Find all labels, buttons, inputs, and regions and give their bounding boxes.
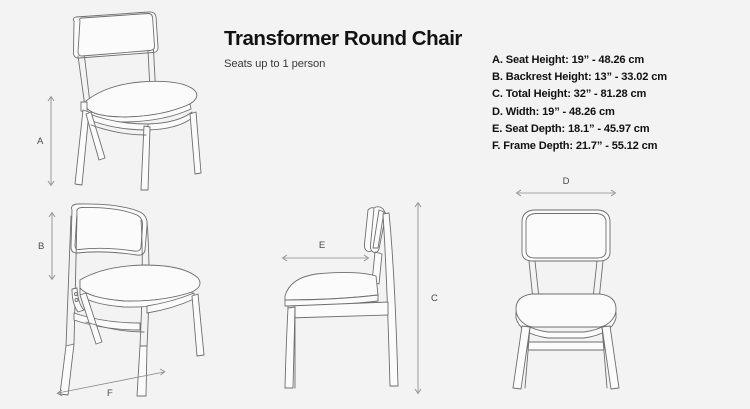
dimension-line-e: E	[283, 240, 369, 261]
dimension-label-c: C	[431, 293, 438, 304]
chair-view-three-quarter-front: A	[44, 6, 214, 191]
dimension-label-d: D	[563, 176, 570, 187]
chair-view-side: E C	[276, 196, 446, 401]
spec-item-a: A. Seat Height: 19” - 48.26 cm	[492, 52, 667, 69]
spec-item-d: D. Width: 19” - 48.26 cm	[492, 104, 667, 121]
product-subtitle: Seats up to 1 person	[224, 58, 474, 70]
backrest-panel	[71, 204, 147, 255]
dimension-line-a: A	[37, 97, 54, 186]
dimension-line-d: D	[517, 176, 616, 196]
dimension-label-e: E	[319, 240, 325, 251]
leg-front-left	[75, 110, 89, 185]
spec-item-b: B. Backrest Height: 13” - 33.02 cm	[492, 69, 667, 86]
chair-illustration-three-quarter-front	[73, 12, 201, 190]
spec-item-e: E. Seat Depth: 18.1” - 45.97 cm	[492, 121, 667, 138]
backrest-panel	[522, 210, 610, 261]
spec-item-f: F. Frame Depth: 21.7” - 55.12 cm	[492, 138, 667, 155]
leg-rear-right	[137, 346, 147, 396]
chair-illustration-front	[513, 210, 619, 389]
seat-cushion	[516, 294, 616, 327]
leg-rear-left	[60, 344, 74, 395]
chair-dimension-spec-sheet: Transformer Round Chair Seats up to 1 pe…	[0, 0, 750, 409]
seat-cushion	[285, 272, 378, 300]
leg-rear-right	[190, 112, 201, 174]
upright-right-edge	[593, 261, 597, 298]
upright-left-edge	[535, 261, 539, 298]
chair-view-three-quarter-rear: B F	[44, 196, 229, 401]
dimension-label-f: F	[107, 388, 113, 399]
rear-stile-leg	[383, 213, 398, 386]
dimension-label-b: B	[38, 241, 44, 252]
leg-front-right	[141, 126, 150, 190]
leg-front-right	[192, 294, 204, 356]
chair-illustration-side	[285, 207, 398, 388]
dimension-line-f: F	[57, 369, 165, 399]
page-title: Transformer Round Chair	[224, 28, 474, 50]
leg-front	[285, 307, 295, 388]
chair-illustration-three-quarter-rear	[60, 204, 204, 396]
product-header: Transformer Round Chair Seats up to 1 pe…	[224, 28, 474, 70]
dimension-line-b: B	[38, 213, 55, 280]
spec-item-c: C. Total Height: 32” - 81.28 cm	[492, 86, 667, 103]
back-left-upright	[66, 216, 71, 346]
front-rail	[528, 342, 604, 350]
dimension-line-c: C	[415, 203, 438, 394]
specification-list: A. Seat Height: 19” - 48.26 cm B. Backre…	[492, 52, 667, 155]
dimension-label-a: A	[37, 136, 44, 147]
chair-view-front: D	[496, 166, 671, 396]
